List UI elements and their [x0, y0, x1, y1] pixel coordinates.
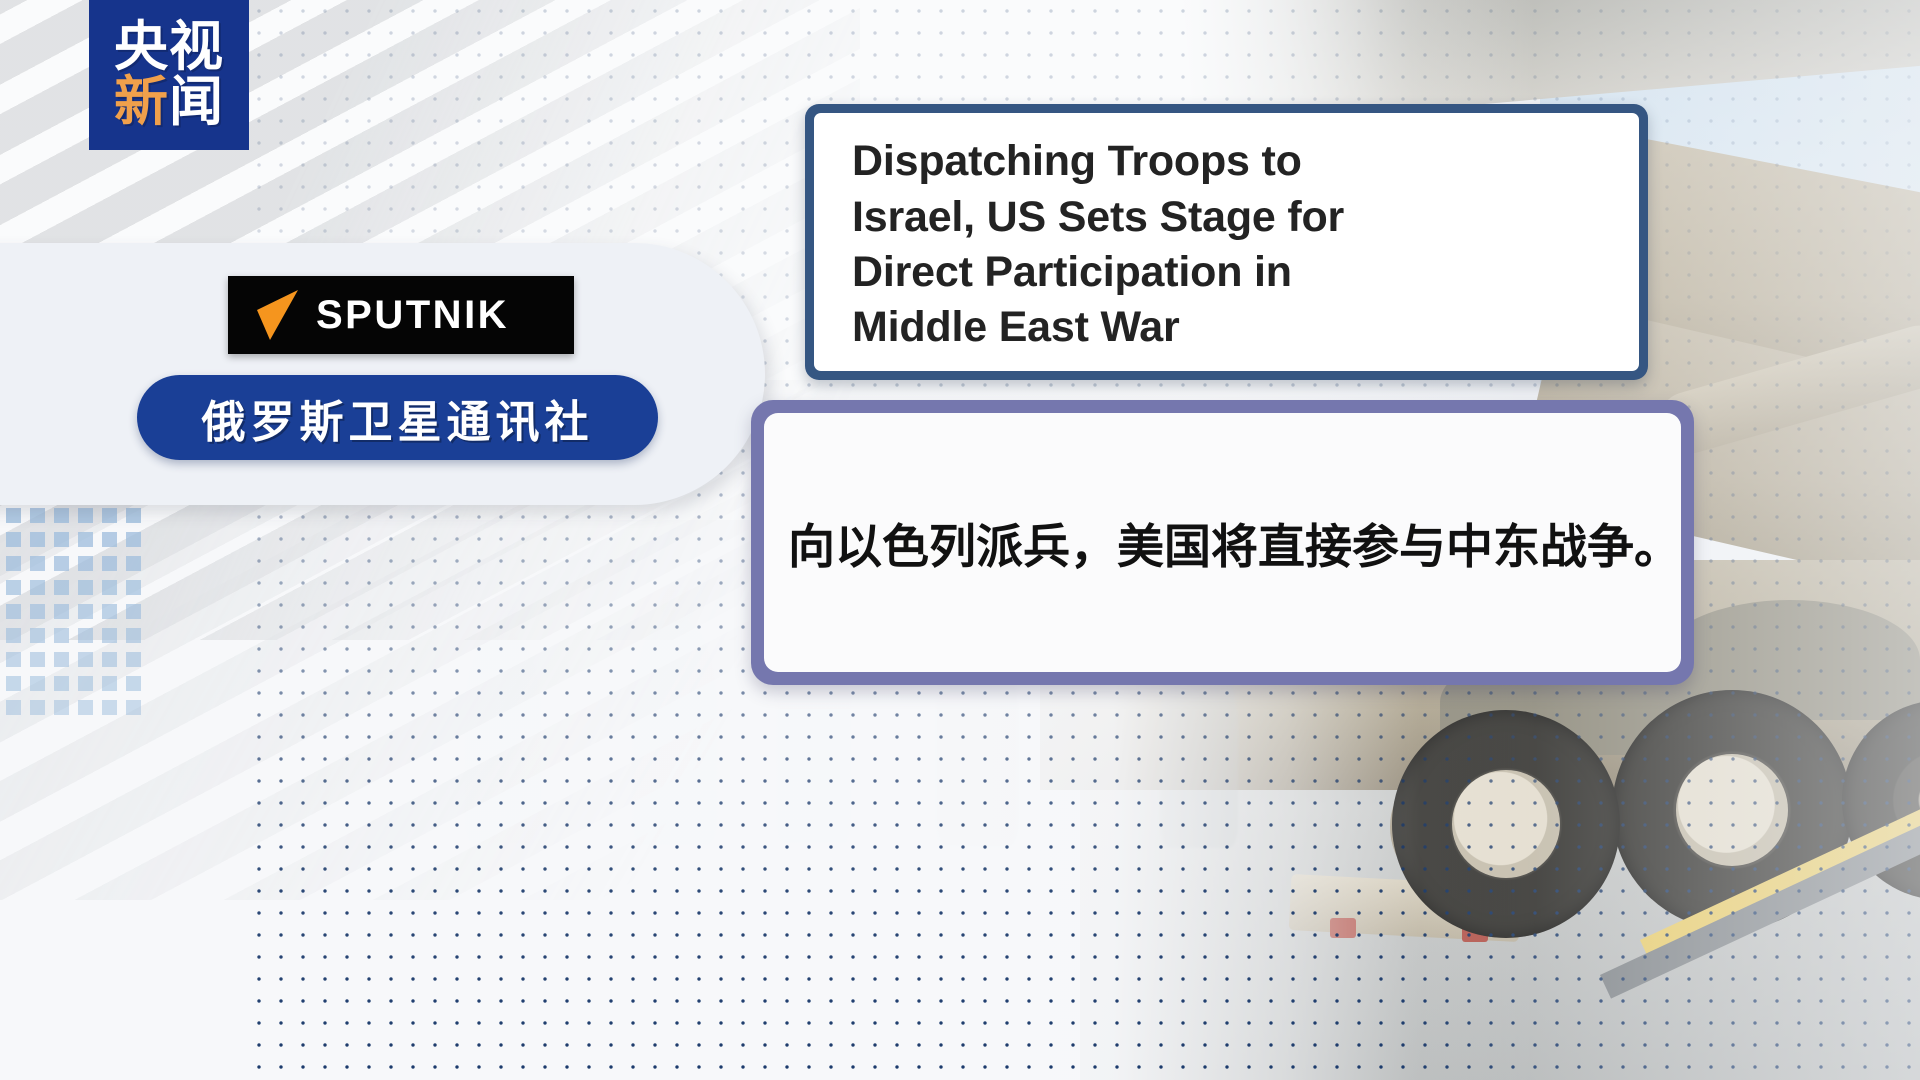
cctv-news-logo: 央视 新 闻 [89, 0, 249, 150]
sputnik-wordmark: SPUTNIK [316, 293, 509, 338]
cctv-logo-line-2: 新 闻 [114, 76, 224, 129]
source-agency-name: 俄罗斯卫星通讯社 [202, 386, 594, 450]
decorative-square [126, 604, 141, 619]
source-agency-pill: 俄罗斯卫星通讯社 [137, 375, 658, 460]
cctv-logo-char-wen: 闻 [169, 76, 224, 129]
sputnik-logo: SPUTNIK [228, 276, 574, 354]
decorative-square [126, 580, 141, 595]
headline-text: Dispatching Troops toIsrael, US Sets Sta… [852, 134, 1344, 356]
decorative-square [126, 556, 141, 571]
news-graphic-stage: 央视 新 闻 SPUTNIK 俄罗斯卫星通讯社 Dispatching Troo… [0, 0, 1920, 1080]
decorative-square [102, 508, 117, 523]
decorative-square [78, 676, 93, 691]
decorative-square [78, 532, 93, 547]
decorative-square [30, 604, 45, 619]
decorative-square [54, 628, 69, 643]
decorative-square [78, 556, 93, 571]
decorative-square [54, 700, 69, 715]
decorative-square [54, 556, 69, 571]
headline-line-4: Middle East War [852, 300, 1344, 355]
decorative-square [126, 532, 141, 547]
decorative-square [54, 604, 69, 619]
source-attribution-card: SPUTNIK 俄罗斯卫星通讯社 [0, 243, 765, 505]
decorative-square [6, 508, 21, 523]
headline-card: Dispatching Troops toIsrael, US Sets Sta… [805, 104, 1648, 380]
decorative-square [102, 580, 117, 595]
translation-card-inner: 向以色列派兵，美国将直接参与中东战争。 [764, 413, 1681, 672]
headline-line-1: Dispatching Troops to [852, 134, 1344, 189]
decorative-square [126, 700, 141, 715]
headline-line-3: Direct Participation in [852, 245, 1344, 300]
blue-square-grid [0, 508, 196, 704]
headline-card-inner: Dispatching Troops toIsrael, US Sets Sta… [814, 113, 1639, 371]
decorative-square [54, 580, 69, 595]
cctv-logo-line-1: 央视 [114, 21, 224, 74]
cctv-logo-char-xin: 新 [114, 76, 169, 129]
decorative-square [126, 676, 141, 691]
decorative-square [6, 604, 21, 619]
sputnik-arrow-icon [254, 288, 300, 342]
headline-line-2: Israel, US Sets Stage for [852, 190, 1344, 245]
decorative-square [102, 556, 117, 571]
decorative-square [6, 532, 21, 547]
decorative-square [30, 508, 45, 523]
decorative-square [78, 604, 93, 619]
decorative-square [30, 580, 45, 595]
decorative-square [102, 532, 117, 547]
decorative-square [6, 652, 21, 667]
decorative-square [30, 676, 45, 691]
translation-card: 向以色列派兵，美国将直接参与中东战争。 [751, 400, 1694, 685]
decorative-square [30, 628, 45, 643]
decorative-square [102, 700, 117, 715]
decorative-square [102, 628, 117, 643]
decorative-square [6, 700, 21, 715]
decorative-square [30, 532, 45, 547]
decorative-square [30, 556, 45, 571]
decorative-square [102, 676, 117, 691]
decorative-square [102, 652, 117, 667]
decorative-square [78, 508, 93, 523]
decorative-square [6, 556, 21, 571]
decorative-square [126, 508, 141, 523]
decorative-square [102, 604, 117, 619]
decorative-square [30, 700, 45, 715]
decorative-square [78, 580, 93, 595]
decorative-square [126, 652, 141, 667]
decorative-square [78, 628, 93, 643]
decorative-square [54, 532, 69, 547]
decorative-square [78, 652, 93, 667]
decorative-square [30, 652, 45, 667]
translation-text: 向以色列派兵，美国将直接参与中东战争。 [788, 508, 1681, 577]
cctv-logo-char-yang-shi: 央视 [114, 21, 224, 74]
decorative-square [126, 628, 141, 643]
decorative-square [54, 508, 69, 523]
decorative-square [6, 628, 21, 643]
decorative-square [78, 700, 93, 715]
decorative-square [54, 676, 69, 691]
decorative-square [6, 676, 21, 691]
decorative-square [54, 652, 69, 667]
decorative-square [6, 580, 21, 595]
